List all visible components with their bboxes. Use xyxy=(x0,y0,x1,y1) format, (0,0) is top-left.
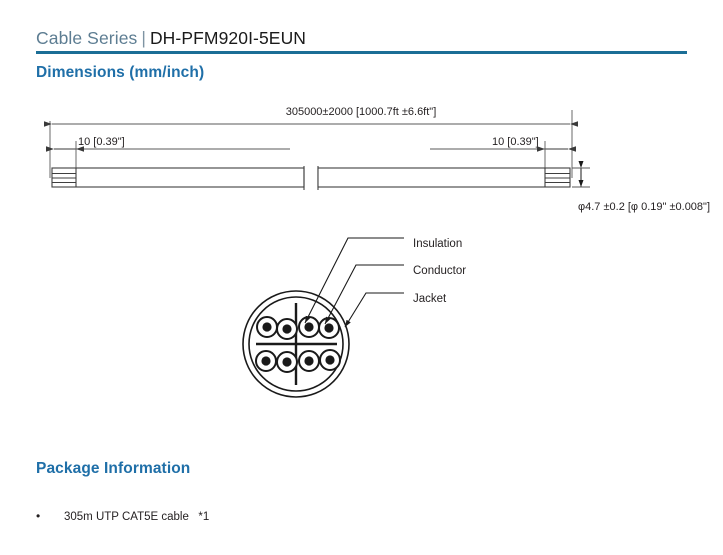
series-label: Cable Series xyxy=(36,28,137,48)
right-strip-label: 10 [0.39"] xyxy=(492,136,539,148)
model-number: DH-PFM920I-5EUN xyxy=(150,28,306,48)
jacket-inner-ring xyxy=(249,297,343,391)
list-item: • 305m UTP CAT5E cable *1 xyxy=(36,508,536,525)
page-title: Cable Series|DH-PFM920I-5EUN xyxy=(36,27,687,49)
conductor-pair xyxy=(256,351,276,371)
title-divider xyxy=(36,51,687,54)
diameter-label: φ4.7 ±0.2 [φ 0.19" ±0.008"] xyxy=(578,201,710,213)
list-bullet: • xyxy=(36,508,64,524)
jacket-leader xyxy=(345,293,404,327)
conductor-pair xyxy=(277,319,297,339)
conductor-pair xyxy=(277,352,297,372)
callout-label-insulation: Insulation xyxy=(413,238,462,250)
callout-label-conductor: Conductor xyxy=(413,265,466,277)
conductor-leader xyxy=(325,265,404,324)
conductor-pair xyxy=(257,317,277,337)
overall-length-label: 305000±2000 [1000.7ft ±6.6ft"] xyxy=(286,106,437,118)
page-header: Cable Series|DH-PFM920I-5EUN xyxy=(36,27,687,49)
package-item-list: • 305m UTP CAT5E cable *1 xyxy=(36,508,536,525)
callout-label-jacket: Jacket xyxy=(413,293,447,305)
conductor-pair xyxy=(299,351,319,371)
insulation-leader xyxy=(305,238,404,323)
package-information-heading: Package Information xyxy=(36,460,190,478)
dimensions-section-heading: Dimensions (mm/inch) xyxy=(36,64,204,82)
conductor-pair xyxy=(320,350,340,370)
list-item-label: 305m UTP CAT5E cable *1 xyxy=(64,509,209,525)
left-strip-label: 10 [0.39"] xyxy=(78,136,125,148)
conductor-pair xyxy=(319,318,339,338)
conductor-pair xyxy=(299,317,319,337)
title-separator: | xyxy=(137,28,150,48)
jacket-outer-ring xyxy=(243,291,349,397)
